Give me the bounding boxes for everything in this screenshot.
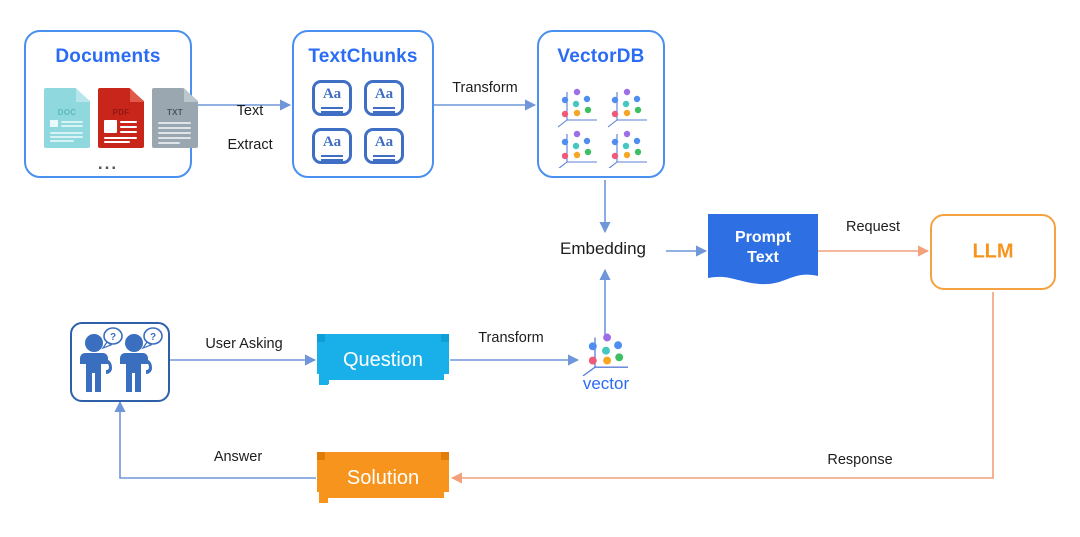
file-label-pdf: PDF xyxy=(98,108,144,117)
label-user-asking: User Asking xyxy=(178,336,310,353)
file-icon-txt: TXT xyxy=(152,88,198,148)
label-transform-top: Transform xyxy=(436,80,534,97)
node-vector[interactable]: vector xyxy=(568,332,644,394)
chunk-tile-label: Aa xyxy=(315,86,349,103)
question-label: Question xyxy=(317,334,449,386)
file-icon-doc: DOC xyxy=(44,88,90,148)
edge-answer xyxy=(120,402,316,478)
node-llm[interactable]: LLM xyxy=(930,214,1056,290)
label-text-extract-line1: Text xyxy=(237,103,264,119)
textchunks-title: TextChunks xyxy=(294,46,432,68)
label-embedding: Embedding xyxy=(540,240,666,257)
prompt-text-line1: Prompt xyxy=(735,229,791,246)
edge-response xyxy=(452,292,993,478)
node-question[interactable]: Question xyxy=(317,334,449,386)
documents-title: Documents xyxy=(26,46,190,68)
node-vectordb[interactable]: VectorDB xyxy=(537,30,665,178)
node-documents[interactable]: Documents DOC PDF TXT xyxy=(24,30,192,178)
node-textchunks[interactable]: TextChunks Aa Aa Aa Aa xyxy=(292,30,434,178)
file-icon-pdf: PDF xyxy=(98,88,144,148)
node-users[interactable]: ? ? xyxy=(70,322,170,402)
vector-scatter-glyphs xyxy=(555,84,653,168)
vector-axis-icon xyxy=(574,332,638,376)
svg-text:?: ? xyxy=(150,332,156,343)
node-solution[interactable]: Solution xyxy=(317,452,449,504)
llm-label: LLM xyxy=(932,241,1054,264)
chunk-tile: Aa xyxy=(312,80,352,116)
documents-ellipsis: ... xyxy=(26,154,190,174)
file-label-txt: TXT xyxy=(152,108,198,117)
chunk-tile: Aa xyxy=(312,128,352,164)
vector-label: vector xyxy=(568,374,644,394)
node-prompt-text[interactable]: Prompt Text xyxy=(708,214,818,290)
label-transform-bottom: Transform xyxy=(456,330,566,347)
chunk-tile: Aa xyxy=(364,80,404,116)
svg-text:?: ? xyxy=(110,332,116,343)
chunk-tile-label: Aa xyxy=(367,134,401,151)
label-answer: Answer xyxy=(168,449,308,466)
chunk-tile-label: Aa xyxy=(367,86,401,103)
chunk-tile-label: Aa xyxy=(315,134,349,151)
prompt-text-label: Prompt Text xyxy=(708,228,818,268)
users-asking-icon: ? ? xyxy=(72,325,168,401)
label-text-extract-line2: Extract xyxy=(228,137,273,153)
prompt-text-line2: Text xyxy=(747,249,779,266)
label-request: Request xyxy=(822,219,924,236)
solution-label: Solution xyxy=(317,452,449,504)
chunk-tile: Aa xyxy=(364,128,404,164)
diagram-canvas: Documents DOC PDF TXT xyxy=(0,0,1080,537)
vectordb-title: VectorDB xyxy=(539,46,663,68)
file-label-doc: DOC xyxy=(44,108,90,117)
label-text-extract: Text Extract xyxy=(196,86,288,171)
label-response: Response xyxy=(772,452,948,469)
